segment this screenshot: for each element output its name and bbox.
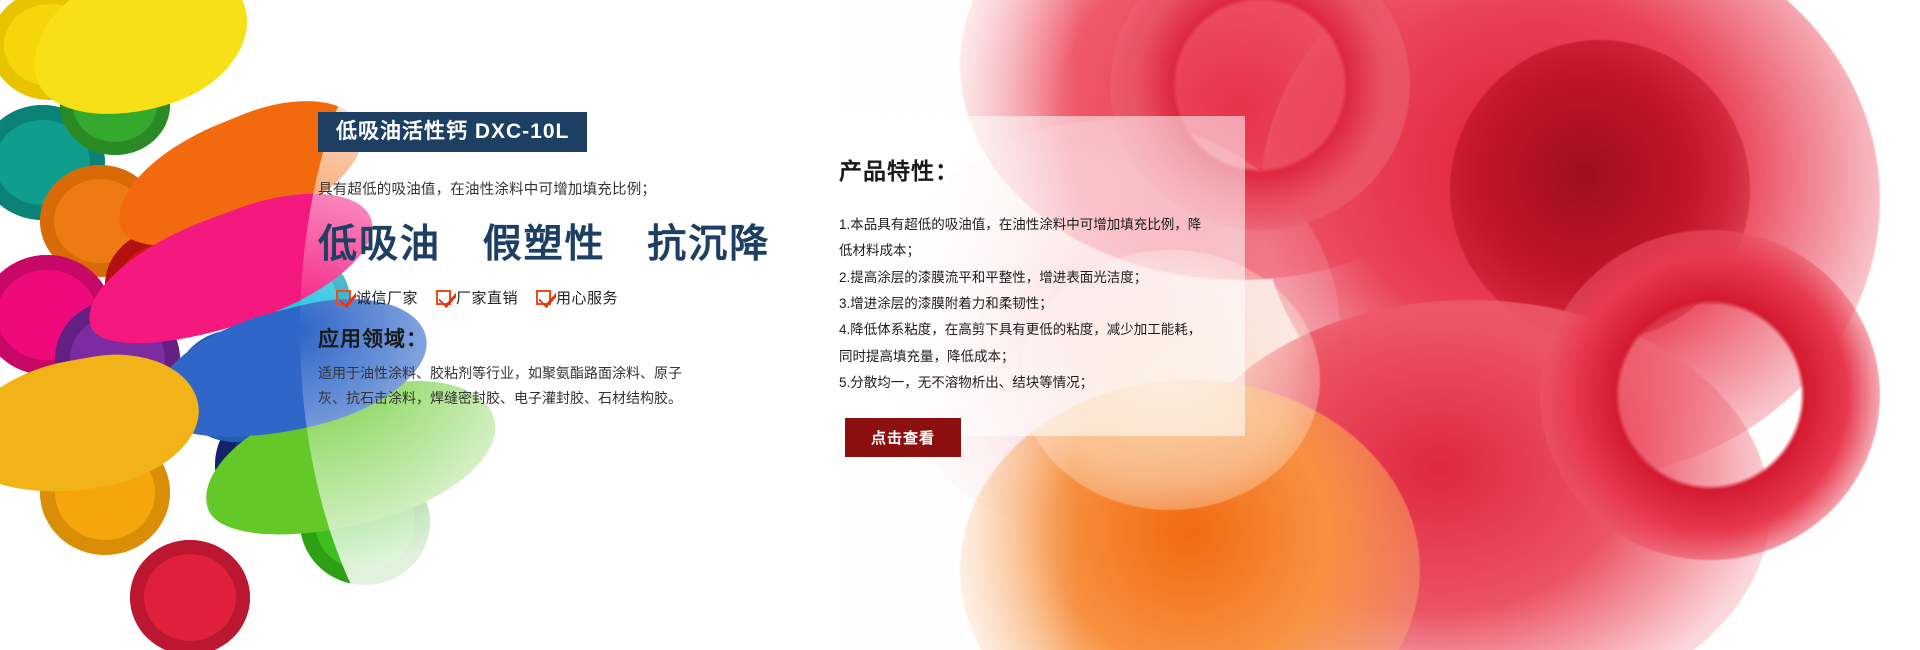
feature-item: 3.增进涂层的漆膜附着力和柔韧性；: [839, 291, 1211, 317]
feature-item: 4.降低体系粘度，在高剪下具有更低的粘度，减少加工能耗，同时提高填充量，降低成本…: [839, 317, 1211, 370]
checkbox-checked-icon: [436, 290, 451, 305]
banner-stage: 低吸油活性钙 DXC-10L 具有超低的吸油值，在油性涂料中可增加填充比例； 低…: [0, 0, 1920, 650]
checkbox-checked-icon: [536, 290, 551, 305]
product-features-panel: 产品特性： 1.本品具有超低的吸油值，在油性涂料中可增加填充比例，降低材料成本；…: [805, 116, 1245, 436]
application-section-title: 应用领域：: [318, 323, 718, 353]
trust-badge-label: 厂家直销: [456, 287, 518, 308]
features-list: 1.本品具有超低的吸油值，在油性涂料中可增加填充比例，降低材料成本； 2.提高涂…: [839, 212, 1211, 396]
application-section-description: 适用于油性涂料、胶粘剂等行业，如聚氨酯路面涂料、原子灰、抗石击涂料，焊缝密封胶、…: [318, 361, 708, 410]
wash-dish-red-right: [1540, 230, 1880, 560]
features-panel-title: 产品特性：: [839, 152, 1245, 186]
trust-badge-1: 诚信厂家: [336, 287, 418, 308]
product-subline: 具有超低的吸油值，在油性涂料中可增加填充比例；: [318, 178, 718, 199]
left-content-column: 低吸油活性钙 DXC-10L 具有超低的吸油值，在油性涂料中可增加填充比例； 低…: [318, 112, 718, 410]
feature-item: 2.提高涂层的漆膜流平和平整性，增进表面光洁度；: [839, 265, 1211, 291]
slogan-word-3: 抗沉降: [647, 221, 770, 267]
trust-badge-2: 厂家直销: [436, 287, 518, 308]
trust-badge-label: 诚信厂家: [356, 287, 418, 308]
view-details-button[interactable]: 点击查看: [845, 418, 961, 457]
feature-item: 5.分散均一，无不溶物析出、结块等情况；: [839, 370, 1211, 396]
slogan-row: 低吸油 假塑性 抗沉降: [318, 213, 718, 269]
feature-item: 1.本品具有超低的吸油值，在油性涂料中可增加填充比例，降低材料成本；: [839, 212, 1211, 265]
trust-badge-3: 用心服务: [536, 287, 618, 308]
product-features-panel-inner: 产品特性： 1.本品具有超低的吸油值，在油性涂料中可增加填充比例，降低材料成本；…: [805, 116, 1245, 457]
slogan-word-1: 低吸油: [318, 221, 441, 267]
slogan-word-2: 假塑性: [483, 221, 606, 267]
product-title-badge: 低吸油活性钙 DXC-10L: [318, 112, 587, 152]
checkbox-checked-icon: [336, 290, 351, 305]
trust-badge-label: 用心服务: [556, 287, 618, 308]
trust-badges-row: 诚信厂家 厂家直销 用心服务: [336, 287, 718, 308]
paint-pot-crimson: [130, 540, 250, 650]
